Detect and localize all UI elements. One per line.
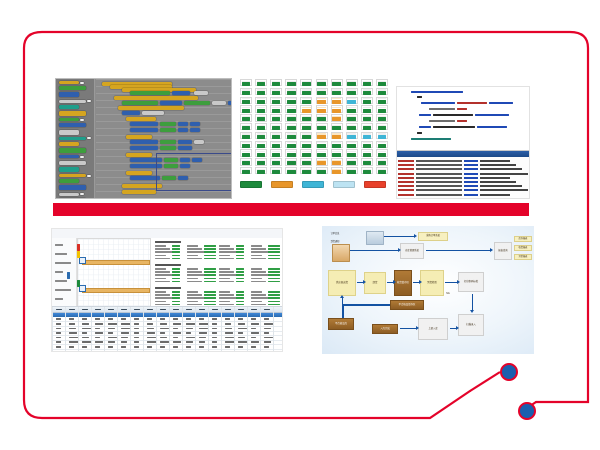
table-cell[interactable] xyxy=(160,328,169,330)
table-column-header[interactable] xyxy=(147,309,153,311)
table-cell[interactable] xyxy=(238,318,243,320)
status-tile[interactable] xyxy=(376,88,388,95)
code-block[interactable] xyxy=(160,128,176,132)
table-cell[interactable] xyxy=(264,332,269,334)
status-tile[interactable] xyxy=(376,97,388,104)
status-tile[interactable] xyxy=(285,123,297,130)
palette-block[interactable] xyxy=(59,167,79,172)
table-cell[interactable] xyxy=(95,328,100,330)
status-tile[interactable] xyxy=(331,149,343,156)
status-tile[interactable] xyxy=(376,158,388,165)
status-tile[interactable] xyxy=(255,105,267,112)
status-tile[interactable] xyxy=(376,167,388,174)
table-cell[interactable] xyxy=(186,341,193,343)
table-cell[interactable] xyxy=(160,332,165,334)
table-cell[interactable] xyxy=(225,332,233,334)
table-cell[interactable] xyxy=(186,337,195,339)
table-cell[interactable] xyxy=(56,332,61,334)
code-block[interactable] xyxy=(118,106,184,110)
status-tile[interactable] xyxy=(240,105,252,112)
status-tile[interactable] xyxy=(331,114,343,121)
status-tile[interactable] xyxy=(361,97,373,104)
code-block[interactable] xyxy=(122,111,140,115)
status-tile[interactable] xyxy=(361,167,373,174)
table-cell[interactable] xyxy=(251,318,256,320)
code-block[interactable] xyxy=(212,101,226,105)
table-cell[interactable] xyxy=(186,323,195,325)
status-tile[interactable] xyxy=(331,88,343,95)
status-tile[interactable] xyxy=(346,132,358,139)
gantt-milestone[interactable] xyxy=(79,257,86,264)
status-tile[interactable] xyxy=(376,105,388,112)
palette-block[interactable] xyxy=(59,174,86,177)
code-block[interactable] xyxy=(172,91,190,95)
code-block[interactable] xyxy=(126,153,152,157)
status-tile[interactable] xyxy=(270,123,282,130)
table-cell[interactable] xyxy=(56,341,61,343)
table-cell[interactable] xyxy=(264,341,271,343)
table-cell[interactable] xyxy=(95,318,100,320)
status-tile[interactable] xyxy=(361,114,373,121)
table-cell[interactable] xyxy=(212,332,217,334)
status-tile[interactable] xyxy=(376,132,388,139)
table-cell[interactable] xyxy=(251,323,259,325)
code-block[interactable] xyxy=(122,101,158,105)
table-cell[interactable] xyxy=(56,328,61,330)
status-tile[interactable] xyxy=(300,114,312,121)
schedule-data-table[interactable] xyxy=(52,306,282,351)
gantt-signal-stop[interactable] xyxy=(77,244,80,251)
table-cell[interactable] xyxy=(173,328,178,330)
code-block[interactable] xyxy=(130,146,158,150)
table-cell[interactable] xyxy=(173,318,178,320)
status-tile[interactable] xyxy=(255,158,267,165)
table-cell[interactable] xyxy=(199,328,208,330)
table-cell[interactable] xyxy=(56,337,61,339)
table-cell[interactable] xyxy=(69,318,74,320)
palette-block[interactable] xyxy=(59,161,86,165)
table-cell[interactable] xyxy=(134,337,139,339)
code-block[interactable] xyxy=(130,91,170,95)
code-block[interactable] xyxy=(130,122,158,126)
table-cell[interactable] xyxy=(108,323,117,325)
table-cell[interactable] xyxy=(160,318,165,320)
table-cell[interactable] xyxy=(69,346,74,348)
palette-block[interactable] xyxy=(59,137,86,140)
code-editor-panel[interactable] xyxy=(396,86,530,199)
palette-block-field[interactable] xyxy=(80,119,84,121)
table-cell[interactable] xyxy=(212,341,217,343)
status-tile[interactable] xyxy=(346,88,358,95)
table-cell[interactable] xyxy=(160,323,167,325)
table-column-header[interactable] xyxy=(121,309,127,311)
status-tile[interactable] xyxy=(270,88,282,95)
table-cell[interactable] xyxy=(251,341,259,343)
table-cell[interactable] xyxy=(69,323,75,325)
status-tile[interactable] xyxy=(316,97,328,104)
code-block[interactable] xyxy=(194,140,204,144)
table-cell[interactable] xyxy=(56,346,61,348)
code-block[interactable] xyxy=(160,146,176,150)
table-cell[interactable] xyxy=(160,346,165,348)
table-cell[interactable] xyxy=(108,332,113,334)
table-cell[interactable] xyxy=(212,337,217,339)
code-block[interactable] xyxy=(184,101,210,105)
code-block[interactable] xyxy=(142,111,164,115)
table-cell[interactable] xyxy=(82,328,91,330)
status-tile[interactable] xyxy=(240,114,252,121)
table-cell[interactable] xyxy=(108,328,115,330)
palette-block[interactable] xyxy=(59,111,86,116)
status-tile[interactable] xyxy=(270,158,282,165)
status-tile[interactable] xyxy=(361,132,373,139)
table-cell[interactable] xyxy=(238,332,243,334)
table-cell[interactable] xyxy=(147,346,152,348)
status-tile[interactable] xyxy=(361,141,373,148)
table-cell[interactable] xyxy=(251,337,256,339)
status-tile[interactable] xyxy=(285,132,297,139)
status-tile[interactable] xyxy=(300,158,312,165)
status-tile[interactable] xyxy=(331,97,343,104)
status-tile[interactable] xyxy=(285,167,297,174)
status-tile[interactable] xyxy=(376,149,388,156)
status-tile[interactable] xyxy=(331,79,343,86)
status-tile[interactable] xyxy=(331,158,343,165)
status-tile[interactable] xyxy=(376,79,388,86)
status-tile-grid[interactable] xyxy=(240,79,392,177)
table-cell[interactable] xyxy=(147,318,152,320)
status-tile[interactable] xyxy=(300,79,312,86)
status-tile[interactable] xyxy=(376,123,388,130)
table-cell[interactable] xyxy=(56,318,61,320)
gantt-milestone[interactable] xyxy=(79,285,86,292)
status-tile[interactable] xyxy=(316,132,328,139)
status-tile[interactable] xyxy=(331,123,343,130)
table-cell[interactable] xyxy=(238,328,247,330)
table-column-header[interactable] xyxy=(212,309,218,311)
status-tile[interactable] xyxy=(270,132,282,139)
table-cell[interactable] xyxy=(134,318,139,320)
palette-block[interactable] xyxy=(59,155,79,158)
gantt-bar[interactable] xyxy=(82,260,150,265)
table-column-header[interactable] xyxy=(56,309,62,311)
blocks-canvas[interactable] xyxy=(96,79,231,198)
code-block[interactable] xyxy=(190,122,200,126)
table-cell[interactable] xyxy=(108,337,117,339)
palette-block[interactable] xyxy=(59,198,86,199)
code-block[interactable] xyxy=(130,140,158,144)
table-cell[interactable] xyxy=(186,318,191,320)
table-cell[interactable] xyxy=(95,337,100,339)
table-cell[interactable] xyxy=(251,332,259,334)
status-tile[interactable] xyxy=(255,79,267,86)
status-tile[interactable] xyxy=(285,88,297,95)
palette-block[interactable] xyxy=(59,142,79,146)
status-tile[interactable] xyxy=(255,167,267,174)
palette-block-field[interactable] xyxy=(87,137,91,139)
code-block[interactable] xyxy=(178,122,188,126)
table-cell[interactable] xyxy=(186,346,191,348)
blocks-editor-panel[interactable] xyxy=(55,78,232,199)
table-cell[interactable] xyxy=(147,328,154,330)
table-column-header[interactable] xyxy=(82,309,88,311)
table-cell[interactable] xyxy=(108,341,115,343)
status-tile[interactable] xyxy=(361,149,373,156)
palette-block[interactable] xyxy=(59,130,79,135)
table-cell[interactable] xyxy=(160,341,169,343)
status-tile[interactable] xyxy=(285,97,297,104)
table-cell[interactable] xyxy=(82,346,87,348)
status-tile[interactable] xyxy=(240,141,252,148)
table-column-header[interactable] xyxy=(199,309,205,311)
status-tile[interactable] xyxy=(285,79,297,86)
table-cell[interactable] xyxy=(173,332,181,334)
table-cell[interactable] xyxy=(121,328,130,330)
palette-block[interactable] xyxy=(59,105,79,109)
table-cell[interactable] xyxy=(199,337,206,339)
status-tile[interactable] xyxy=(316,141,328,148)
code-block[interactable] xyxy=(228,101,232,105)
status-tile[interactable] xyxy=(316,123,328,130)
table-column-header[interactable] xyxy=(251,309,257,311)
code-block[interactable] xyxy=(194,91,208,95)
status-tile[interactable] xyxy=(255,149,267,156)
code-block[interactable] xyxy=(126,117,156,121)
table-cell[interactable] xyxy=(199,332,207,334)
table-column-header[interactable] xyxy=(108,309,114,311)
status-tile[interactable] xyxy=(270,97,282,104)
status-tile[interactable] xyxy=(331,167,343,174)
code-block[interactable] xyxy=(178,146,192,150)
table-cell[interactable] xyxy=(69,332,77,334)
status-tile[interactable] xyxy=(270,141,282,148)
palette-block[interactable] xyxy=(59,179,79,183)
status-tile[interactable] xyxy=(300,97,312,104)
gantt-chart-area[interactable] xyxy=(77,238,151,308)
table-cell[interactable] xyxy=(212,323,217,325)
table-cell[interactable] xyxy=(238,341,247,343)
code-block[interactable] xyxy=(130,128,158,132)
table-cell[interactable] xyxy=(238,346,243,348)
table-column-header[interactable] xyxy=(160,309,166,311)
table-cell[interactable] xyxy=(95,332,103,334)
table-column-header[interactable] xyxy=(264,309,270,311)
status-tile[interactable] xyxy=(346,79,358,86)
table-cell[interactable] xyxy=(225,346,230,348)
status-tile[interactable] xyxy=(361,105,373,112)
status-tile[interactable] xyxy=(300,132,312,139)
status-tile[interactable] xyxy=(255,114,267,121)
table-column-header[interactable] xyxy=(95,309,101,311)
table-cell[interactable] xyxy=(160,337,167,339)
status-tile[interactable] xyxy=(316,149,328,156)
status-tile[interactable] xyxy=(255,123,267,130)
table-cell[interactable] xyxy=(264,328,271,330)
status-tile[interactable] xyxy=(240,167,252,174)
palette-block[interactable] xyxy=(59,185,86,190)
status-tile[interactable] xyxy=(346,167,358,174)
gantt-signal-warn[interactable] xyxy=(77,251,80,258)
table-cell[interactable] xyxy=(121,341,127,343)
table-cell[interactable] xyxy=(108,318,113,320)
palette-block[interactable] xyxy=(59,118,79,121)
status-tile[interactable] xyxy=(270,114,282,121)
table-cell[interactable] xyxy=(56,323,61,325)
table-cell[interactable] xyxy=(147,323,153,325)
table-column-header[interactable] xyxy=(186,309,192,311)
table-cell[interactable] xyxy=(121,337,128,339)
status-tile[interactable] xyxy=(316,105,328,112)
status-tile[interactable] xyxy=(285,114,297,121)
table-cell[interactable] xyxy=(238,337,245,339)
code-block[interactable] xyxy=(126,171,152,175)
status-tile[interactable] xyxy=(331,105,343,112)
status-tile[interactable] xyxy=(240,149,252,156)
table-cell[interactable] xyxy=(251,346,256,348)
status-tile[interactable] xyxy=(300,149,312,156)
status-tile[interactable] xyxy=(316,114,328,121)
table-cell[interactable] xyxy=(147,332,155,334)
palette-block[interactable] xyxy=(59,92,79,97)
table-cell[interactable] xyxy=(264,346,269,348)
status-tile[interactable] xyxy=(240,97,252,104)
table-cell[interactable] xyxy=(264,323,273,325)
status-tile[interactable] xyxy=(285,149,297,156)
table-cell[interactable] xyxy=(134,341,139,343)
code-block[interactable] xyxy=(178,140,192,144)
palette-block[interactable] xyxy=(59,123,86,127)
table-cell[interactable] xyxy=(225,337,234,339)
table-cell[interactable] xyxy=(173,346,178,348)
code-block[interactable] xyxy=(190,128,200,132)
table-cell[interactable] xyxy=(147,337,156,339)
table-cell[interactable] xyxy=(82,332,87,334)
table-cell[interactable] xyxy=(173,323,181,325)
status-tile[interactable] xyxy=(346,114,358,121)
palette-block-field[interactable] xyxy=(87,100,91,102)
status-tile[interactable] xyxy=(376,114,388,121)
status-tile[interactable] xyxy=(361,79,373,86)
status-tile[interactable] xyxy=(240,79,252,86)
status-tile[interactable] xyxy=(376,141,388,148)
table-cell[interactable] xyxy=(82,337,89,339)
table-cell[interactable] xyxy=(212,318,217,320)
status-tile[interactable] xyxy=(361,158,373,165)
status-tile[interactable] xyxy=(300,167,312,174)
status-tile[interactable] xyxy=(316,88,328,95)
status-tile[interactable] xyxy=(240,132,252,139)
table-cell[interactable] xyxy=(264,318,269,320)
table-cell[interactable] xyxy=(134,346,139,348)
table-cell[interactable] xyxy=(69,337,78,339)
table-cell[interactable] xyxy=(69,328,76,330)
status-tile[interactable] xyxy=(316,158,328,165)
table-cell[interactable] xyxy=(95,341,103,343)
status-tile[interactable] xyxy=(331,141,343,148)
status-tile[interactable] xyxy=(240,88,252,95)
status-tile[interactable] xyxy=(240,158,252,165)
status-tile[interactable] xyxy=(255,88,267,95)
table-cell[interactable] xyxy=(199,346,204,348)
palette-block[interactable] xyxy=(59,86,86,90)
palette-block-field[interactable] xyxy=(80,193,84,195)
table-column-header[interactable] xyxy=(238,309,244,311)
table-cell[interactable] xyxy=(82,318,87,320)
table-cell[interactable] xyxy=(238,323,245,325)
blocks-palette[interactable] xyxy=(56,79,95,198)
status-tile[interactable] xyxy=(346,158,358,165)
palette-block[interactable] xyxy=(59,81,79,84)
status-tile[interactable] xyxy=(300,105,312,112)
table-column-header[interactable] xyxy=(69,309,75,311)
code-block[interactable] xyxy=(160,140,176,144)
status-tile[interactable] xyxy=(270,149,282,156)
status-tile[interactable] xyxy=(300,123,312,130)
status-tile[interactable] xyxy=(316,167,328,174)
palette-block[interactable] xyxy=(59,100,86,103)
table-column-header[interactable] xyxy=(173,309,179,311)
table-cell[interactable] xyxy=(82,341,91,343)
status-tile[interactable] xyxy=(285,141,297,148)
table-cell[interactable] xyxy=(264,337,273,339)
gantt-bar[interactable] xyxy=(82,288,150,293)
table-cell[interactable] xyxy=(251,328,256,330)
status-tile[interactable] xyxy=(300,88,312,95)
status-tile[interactable] xyxy=(316,79,328,86)
table-cell[interactable] xyxy=(225,318,230,320)
code-block[interactable] xyxy=(160,101,182,105)
code-block[interactable] xyxy=(114,96,198,100)
status-tile[interactable] xyxy=(346,149,358,156)
code-block[interactable] xyxy=(122,190,156,194)
table-cell[interactable] xyxy=(225,328,232,330)
table-cell[interactable] xyxy=(199,341,205,343)
table-row[interactable] xyxy=(52,345,282,350)
table-cell[interactable] xyxy=(134,332,139,334)
code-block[interactable] xyxy=(126,135,152,139)
status-tile[interactable] xyxy=(270,79,282,86)
table-cell[interactable] xyxy=(212,346,217,348)
table-cell[interactable] xyxy=(134,328,139,330)
gantt-signal-go[interactable] xyxy=(77,280,80,287)
table-cell[interactable] xyxy=(173,337,178,339)
table-cell[interactable] xyxy=(186,332,191,334)
output-panel[interactable] xyxy=(396,150,530,198)
status-tile[interactable] xyxy=(331,132,343,139)
code-block[interactable] xyxy=(178,128,188,132)
status-tile[interactable] xyxy=(285,158,297,165)
status-tile[interactable] xyxy=(255,97,267,104)
scheduling-panel[interactable] xyxy=(51,228,283,352)
table-cell[interactable] xyxy=(225,323,231,325)
table-cell[interactable] xyxy=(212,328,217,330)
status-tile[interactable] xyxy=(346,141,358,148)
table-cell[interactable] xyxy=(121,346,126,348)
table-cell[interactable] xyxy=(108,346,113,348)
status-tile[interactable] xyxy=(346,97,358,104)
status-tile[interactable] xyxy=(361,123,373,130)
table-cell[interactable] xyxy=(121,332,129,334)
palette-block[interactable] xyxy=(59,193,79,196)
palette-block[interactable] xyxy=(59,148,86,153)
status-tile[interactable] xyxy=(346,105,358,112)
table-cell[interactable] xyxy=(95,323,103,325)
status-tile[interactable] xyxy=(285,105,297,112)
table-column-header[interactable] xyxy=(225,309,231,311)
table-cell[interactable] xyxy=(121,318,126,320)
table-cell[interactable] xyxy=(173,341,181,343)
status-tile[interactable] xyxy=(255,132,267,139)
